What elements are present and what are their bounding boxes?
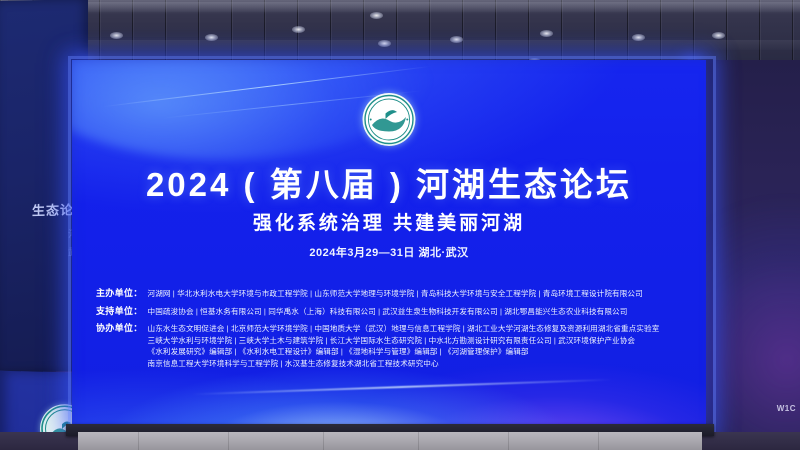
forum-date-location: 2024年3月29—31日 湖北·武汉 xyxy=(72,244,706,260)
ceiling-spotlight xyxy=(110,32,123,39)
stage-base-panel xyxy=(78,432,702,450)
ceiling-spotlight xyxy=(450,36,463,43)
organizer-row-supporter: 支持单位： 中国疏浚协会 | 恒基水务有限公司 | 同华禹水（上海）科技有限公司… xyxy=(96,306,688,318)
organizer-line: 河湖网 | 华北水利水电大学环境与市政工程学院 | 山东师范大学地理与环境学院 … xyxy=(148,288,688,300)
organizer-row-host: 主办单位： 河湖网 | 华北水利水电大学环境与市政工程学院 | 山东师范大学地理… xyxy=(96,288,688,300)
led-screen-surface: 2024 ( 第八届 ) 河湖生态论坛 强化系统治理 共建美丽河湖 2024年3… xyxy=(72,60,706,428)
ceiling-spotlight xyxy=(712,32,725,39)
ceiling-spotlight xyxy=(370,12,383,19)
main-led-screen: 2024 ( 第八届 ) 河湖生态论坛 强化系统治理 共建美丽河湖 2024年3… xyxy=(72,60,706,428)
forum-main-title: 2024 ( 第八届 ) 河湖生态论坛 xyxy=(72,158,706,206)
ceiling-truss-lower xyxy=(0,40,800,50)
watermark: W1C xyxy=(777,404,796,413)
ceiling-spotlight xyxy=(632,34,645,41)
ceiling-spotlight xyxy=(540,30,553,37)
forum-sub-title: 强化系统治理 共建美丽河湖 xyxy=(72,208,706,235)
organizer-line: 中国疏浚协会 | 恒基水务有限公司 | 同华禹水（上海）科技有限公司 | 武汉益… xyxy=(148,306,688,318)
conference-stage-photo: 生态论坛 河湖 武汉 2024(第八届)河湖 共建美丽河湖 强 2024年3月 … xyxy=(0,0,800,450)
ceiling-spotlight xyxy=(378,40,391,47)
organizer-label-supporter: 支持单位： xyxy=(96,306,148,317)
ceiling-light-band xyxy=(0,0,800,14)
ceiling-spotlight xyxy=(205,34,218,41)
ceiling-spotlight xyxy=(292,26,305,33)
forum-emblem-logo xyxy=(363,93,416,146)
organizer-label-host: 主办单位： xyxy=(96,288,148,299)
